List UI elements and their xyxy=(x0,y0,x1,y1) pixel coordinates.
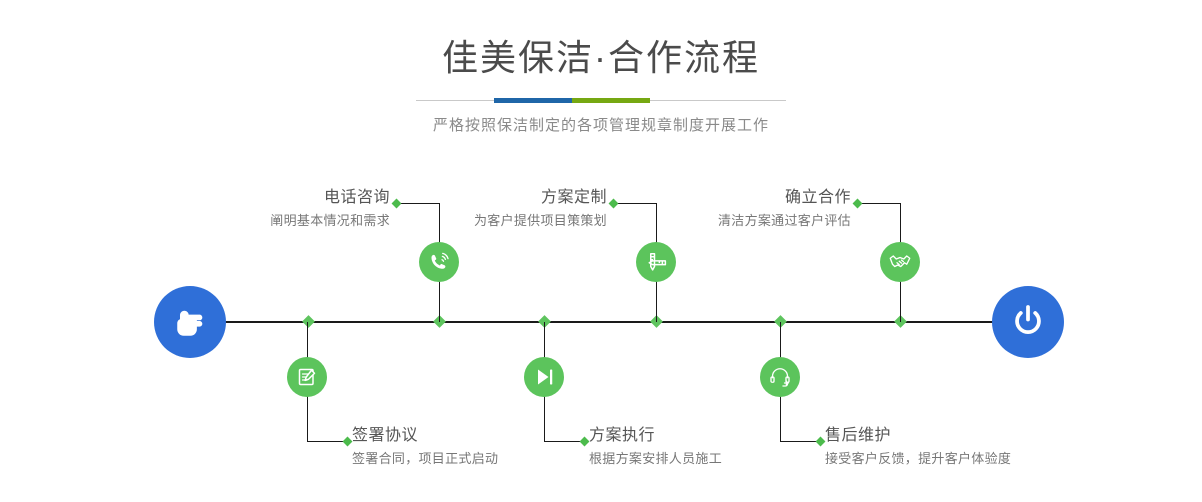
step-icon-1[interactable] xyxy=(419,242,459,282)
connector-step-5-horizontal xyxy=(861,203,901,204)
connector-step-2-horizontal xyxy=(307,441,347,442)
step-title-6: 售后维护 xyxy=(825,426,1095,446)
power-icon xyxy=(1008,302,1048,342)
play-skip-icon xyxy=(532,365,556,389)
step-icon-5[interactable] xyxy=(880,242,920,282)
document-edit-icon xyxy=(295,365,319,389)
step-desc-3: 为客户提供项目策策划 xyxy=(400,211,607,231)
connector-step-6-horizontal xyxy=(780,441,820,442)
step-desc-4: 根据方案安排人员施工 xyxy=(589,449,849,469)
step-icon-2[interactable] xyxy=(287,357,327,397)
step-icon-4[interactable] xyxy=(524,357,564,397)
step-label-1: 电话咨询 阐明基本情况和需求 xyxy=(180,188,390,231)
step-icon-3[interactable] xyxy=(636,242,676,282)
step-title-1: 电话咨询 xyxy=(180,188,390,208)
phone-call-icon xyxy=(427,250,451,274)
timeline: 电话咨询 阐明基本情况和需求 签署协议 签署合同，项目正式启动 xyxy=(0,0,1202,502)
connector-dot-step-5 xyxy=(853,199,863,209)
step-label-5: 确立合作 清洁方案通过客户评估 xyxy=(648,188,851,231)
step-title-5: 确立合作 xyxy=(648,188,851,208)
connector-dot-step-3 xyxy=(609,199,619,209)
handshake-icon xyxy=(888,250,912,274)
step-title-2: 签署协议 xyxy=(352,426,612,446)
step-desc-2: 签署合同，项目正式启动 xyxy=(352,449,612,469)
step-title-3: 方案定制 xyxy=(400,188,607,208)
step-icon-6[interactable] xyxy=(760,357,800,397)
cooperation-process-infographic: 佳美保洁·合作流程 严格按照保洁制定的各项管理规章制度开展工作 xyxy=(0,0,1202,502)
step-label-4: 方案执行 根据方案安排人员施工 xyxy=(589,426,849,469)
timeline-start-node[interactable] xyxy=(154,286,226,358)
headset-plus-icon xyxy=(768,365,792,389)
step-desc-5: 清洁方案通过客户评估 xyxy=(648,211,851,231)
step-label-3: 方案定制 为客户提供项目策策划 xyxy=(400,188,607,231)
step-desc-1: 阐明基本情况和需求 xyxy=(180,211,390,231)
connector-step-4-horizontal xyxy=(544,441,584,442)
pointing-hand-icon xyxy=(170,302,210,342)
step-label-2: 签署协议 签署合同，项目正式启动 xyxy=(352,426,612,469)
pencil-ruler-icon xyxy=(644,250,668,274)
connector-dot-step-2 xyxy=(343,437,353,447)
step-label-6: 售后维护 接受客户反馈，提升客户体验度 xyxy=(825,426,1095,469)
timeline-finish-node[interactable] xyxy=(992,286,1064,358)
axis-marker xyxy=(302,315,315,328)
step-desc-6: 接受客户反馈，提升客户体验度 xyxy=(825,449,1095,469)
step-title-4: 方案执行 xyxy=(589,426,849,446)
timeline-axis xyxy=(213,321,1003,323)
